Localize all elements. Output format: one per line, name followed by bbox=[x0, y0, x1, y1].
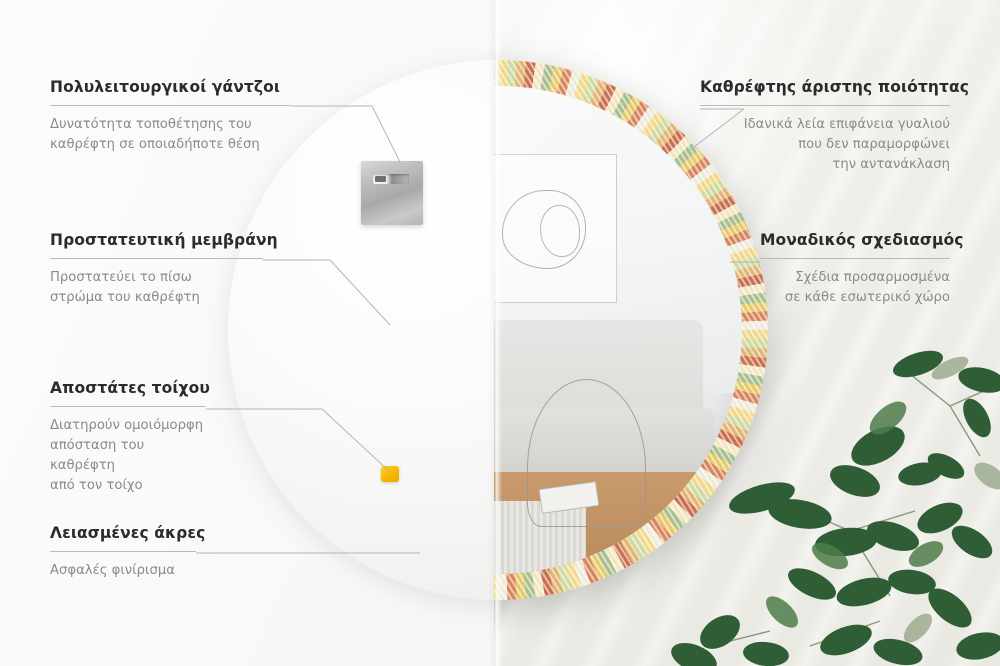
callout-membrane: Προστατευτική μεμβράνη Προστατεύει το πί… bbox=[50, 231, 263, 308]
callout-spacers: Αποστάτες τοίχου Διατηρούν ομοιόμορφηαπό… bbox=[50, 379, 206, 496]
callout-edges: Λειασμένες άκρες Ασφαλές φινίρισμα bbox=[50, 524, 196, 581]
callout-quality: Καθρέφτης άριστης ποιότητας Ιδανικά λεία… bbox=[700, 78, 950, 175]
callout-hooks-body: Δυνατότητα τοποθέτησης τουκαθρέφτη σε οπ… bbox=[50, 115, 290, 155]
callout-edges-body: Ασφαλές φινίρισμα bbox=[50, 561, 196, 581]
callout-membrane-title: Προστατευτική μεμβράνη bbox=[50, 231, 263, 249]
callout-design: Μοναδικός σχεδιασμός Σχέδια προσαρμοσμέν… bbox=[760, 231, 950, 308]
callout-membrane-body: Προστατεύει το πίσωστρώμα του καθρέφτη bbox=[50, 268, 263, 308]
callout-design-title: Μοναδικός σχεδιασμός bbox=[760, 231, 950, 249]
callout-spacers-rule bbox=[50, 406, 206, 407]
callout-design-body: Σχέδια προσαρμοσμένασε κάθε εσωτερικό χώ… bbox=[760, 268, 950, 308]
infographic-canvas: Πολυλειτουργικοί γάντζοι Δυνατότητα τοπο… bbox=[0, 0, 1000, 666]
plant-foliage bbox=[650, 346, 1000, 666]
hanging-hook-plate bbox=[361, 161, 423, 225]
callout-membrane-rule bbox=[50, 258, 263, 259]
callout-spacers-body: Διατηρούν ομοιόμορφηαπόσταση του καθρέφτ… bbox=[50, 416, 206, 496]
callout-hooks-title: Πολυλειτουργικοί γάντζοι bbox=[50, 78, 290, 96]
callout-edges-rule bbox=[50, 551, 196, 552]
callout-quality-body: Ιδανικά λεία επιφάνεια γυαλιούπου δεν πα… bbox=[700, 115, 950, 175]
callout-quality-title: Καθρέφτης άριστης ποιότητας bbox=[700, 78, 950, 96]
callout-spacers-title: Αποστάτες τοίχου bbox=[50, 379, 206, 397]
callout-quality-rule bbox=[700, 105, 950, 106]
callout-design-rule bbox=[760, 258, 950, 259]
callout-hooks: Πολυλειτουργικοί γάντζοι Δυνατότητα τοπο… bbox=[50, 78, 290, 155]
hook-slot-icon bbox=[373, 174, 409, 184]
panel-seam bbox=[488, 0, 502, 666]
callout-hooks-rule bbox=[50, 105, 290, 106]
wall-spacer-marker bbox=[381, 466, 399, 482]
callout-edges-title: Λειασμένες άκρες bbox=[50, 524, 196, 542]
